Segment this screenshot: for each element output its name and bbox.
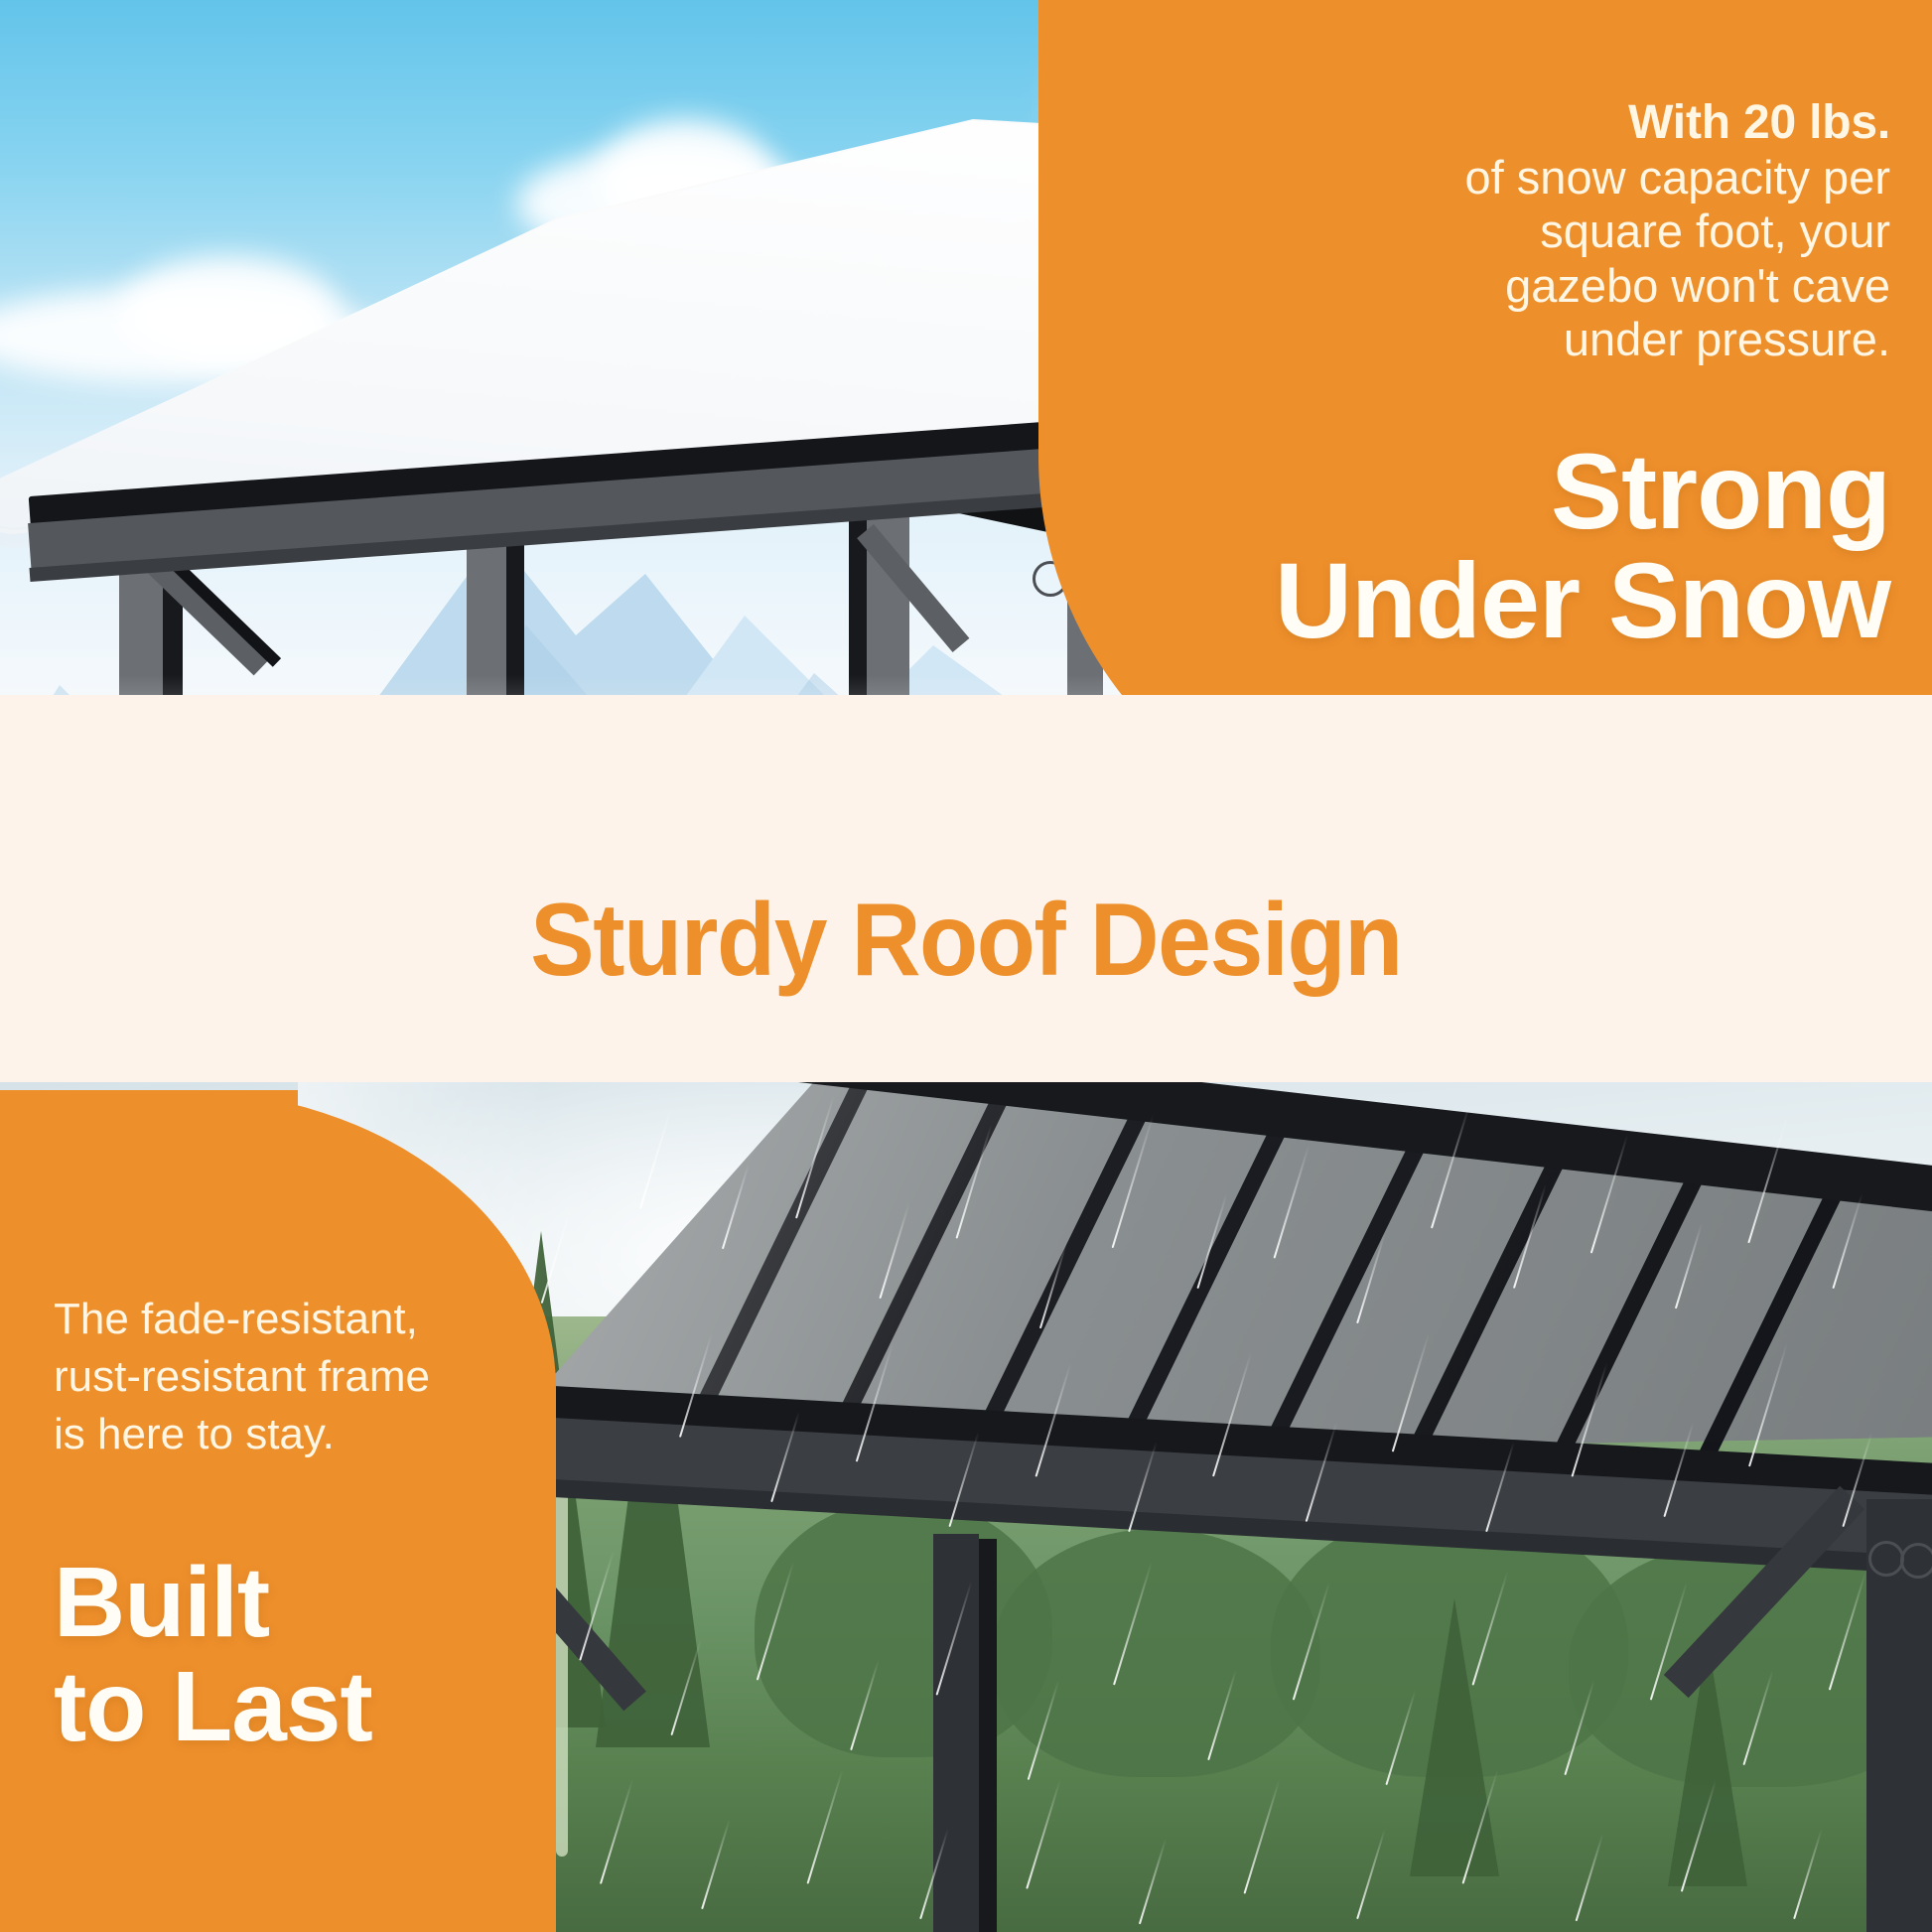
snow-capacity-line5: under pressure.	[1334, 313, 1890, 367]
bolt-icon	[1900, 1543, 1932, 1579]
headline-line-2: to Last	[54, 1655, 481, 1759]
headline-line-1: Built	[54, 1551, 481, 1655]
snow-capacity-line2: of snow capacity per	[1334, 151, 1890, 206]
frame-copy-line-2: rust-resistant frame	[54, 1348, 481, 1406]
snow-capacity-lead: With 20 lbs.	[1334, 95, 1890, 151]
gazebo-post	[933, 1534, 979, 1932]
built-to-last-headline: Built to Last	[54, 1551, 481, 1759]
metal-roof	[417, 1082, 1932, 1608]
headline-line-2: Under Snow	[1136, 546, 1890, 655]
snow-capacity-line4: gazebo won't cave	[1334, 259, 1890, 314]
infographic-root: With 20 lbs. of snow capacity per square…	[0, 0, 1932, 1932]
strong-under-snow-headline: Strong Under Snow	[1136, 437, 1890, 655]
snow-capacity-copy: With 20 lbs. of snow capacity per square…	[1334, 95, 1890, 367]
gazebo-post-shadow	[979, 1539, 997, 1932]
snow-capacity-line3: square foot, your	[1334, 205, 1890, 259]
bolt-icon	[1868, 1541, 1904, 1577]
orange-panel-bottom-left	[0, 1090, 556, 1932]
frame-copy-line-3: is here to stay.	[54, 1406, 481, 1463]
frame-durability-copy: The fade-resistant, rust-resistant frame…	[54, 1291, 481, 1463]
page-title: Sturdy Roof Design	[68, 882, 1864, 1000]
frame-copy-line-1: The fade-resistant,	[54, 1291, 481, 1348]
headline-line-1: Strong	[1136, 437, 1890, 546]
